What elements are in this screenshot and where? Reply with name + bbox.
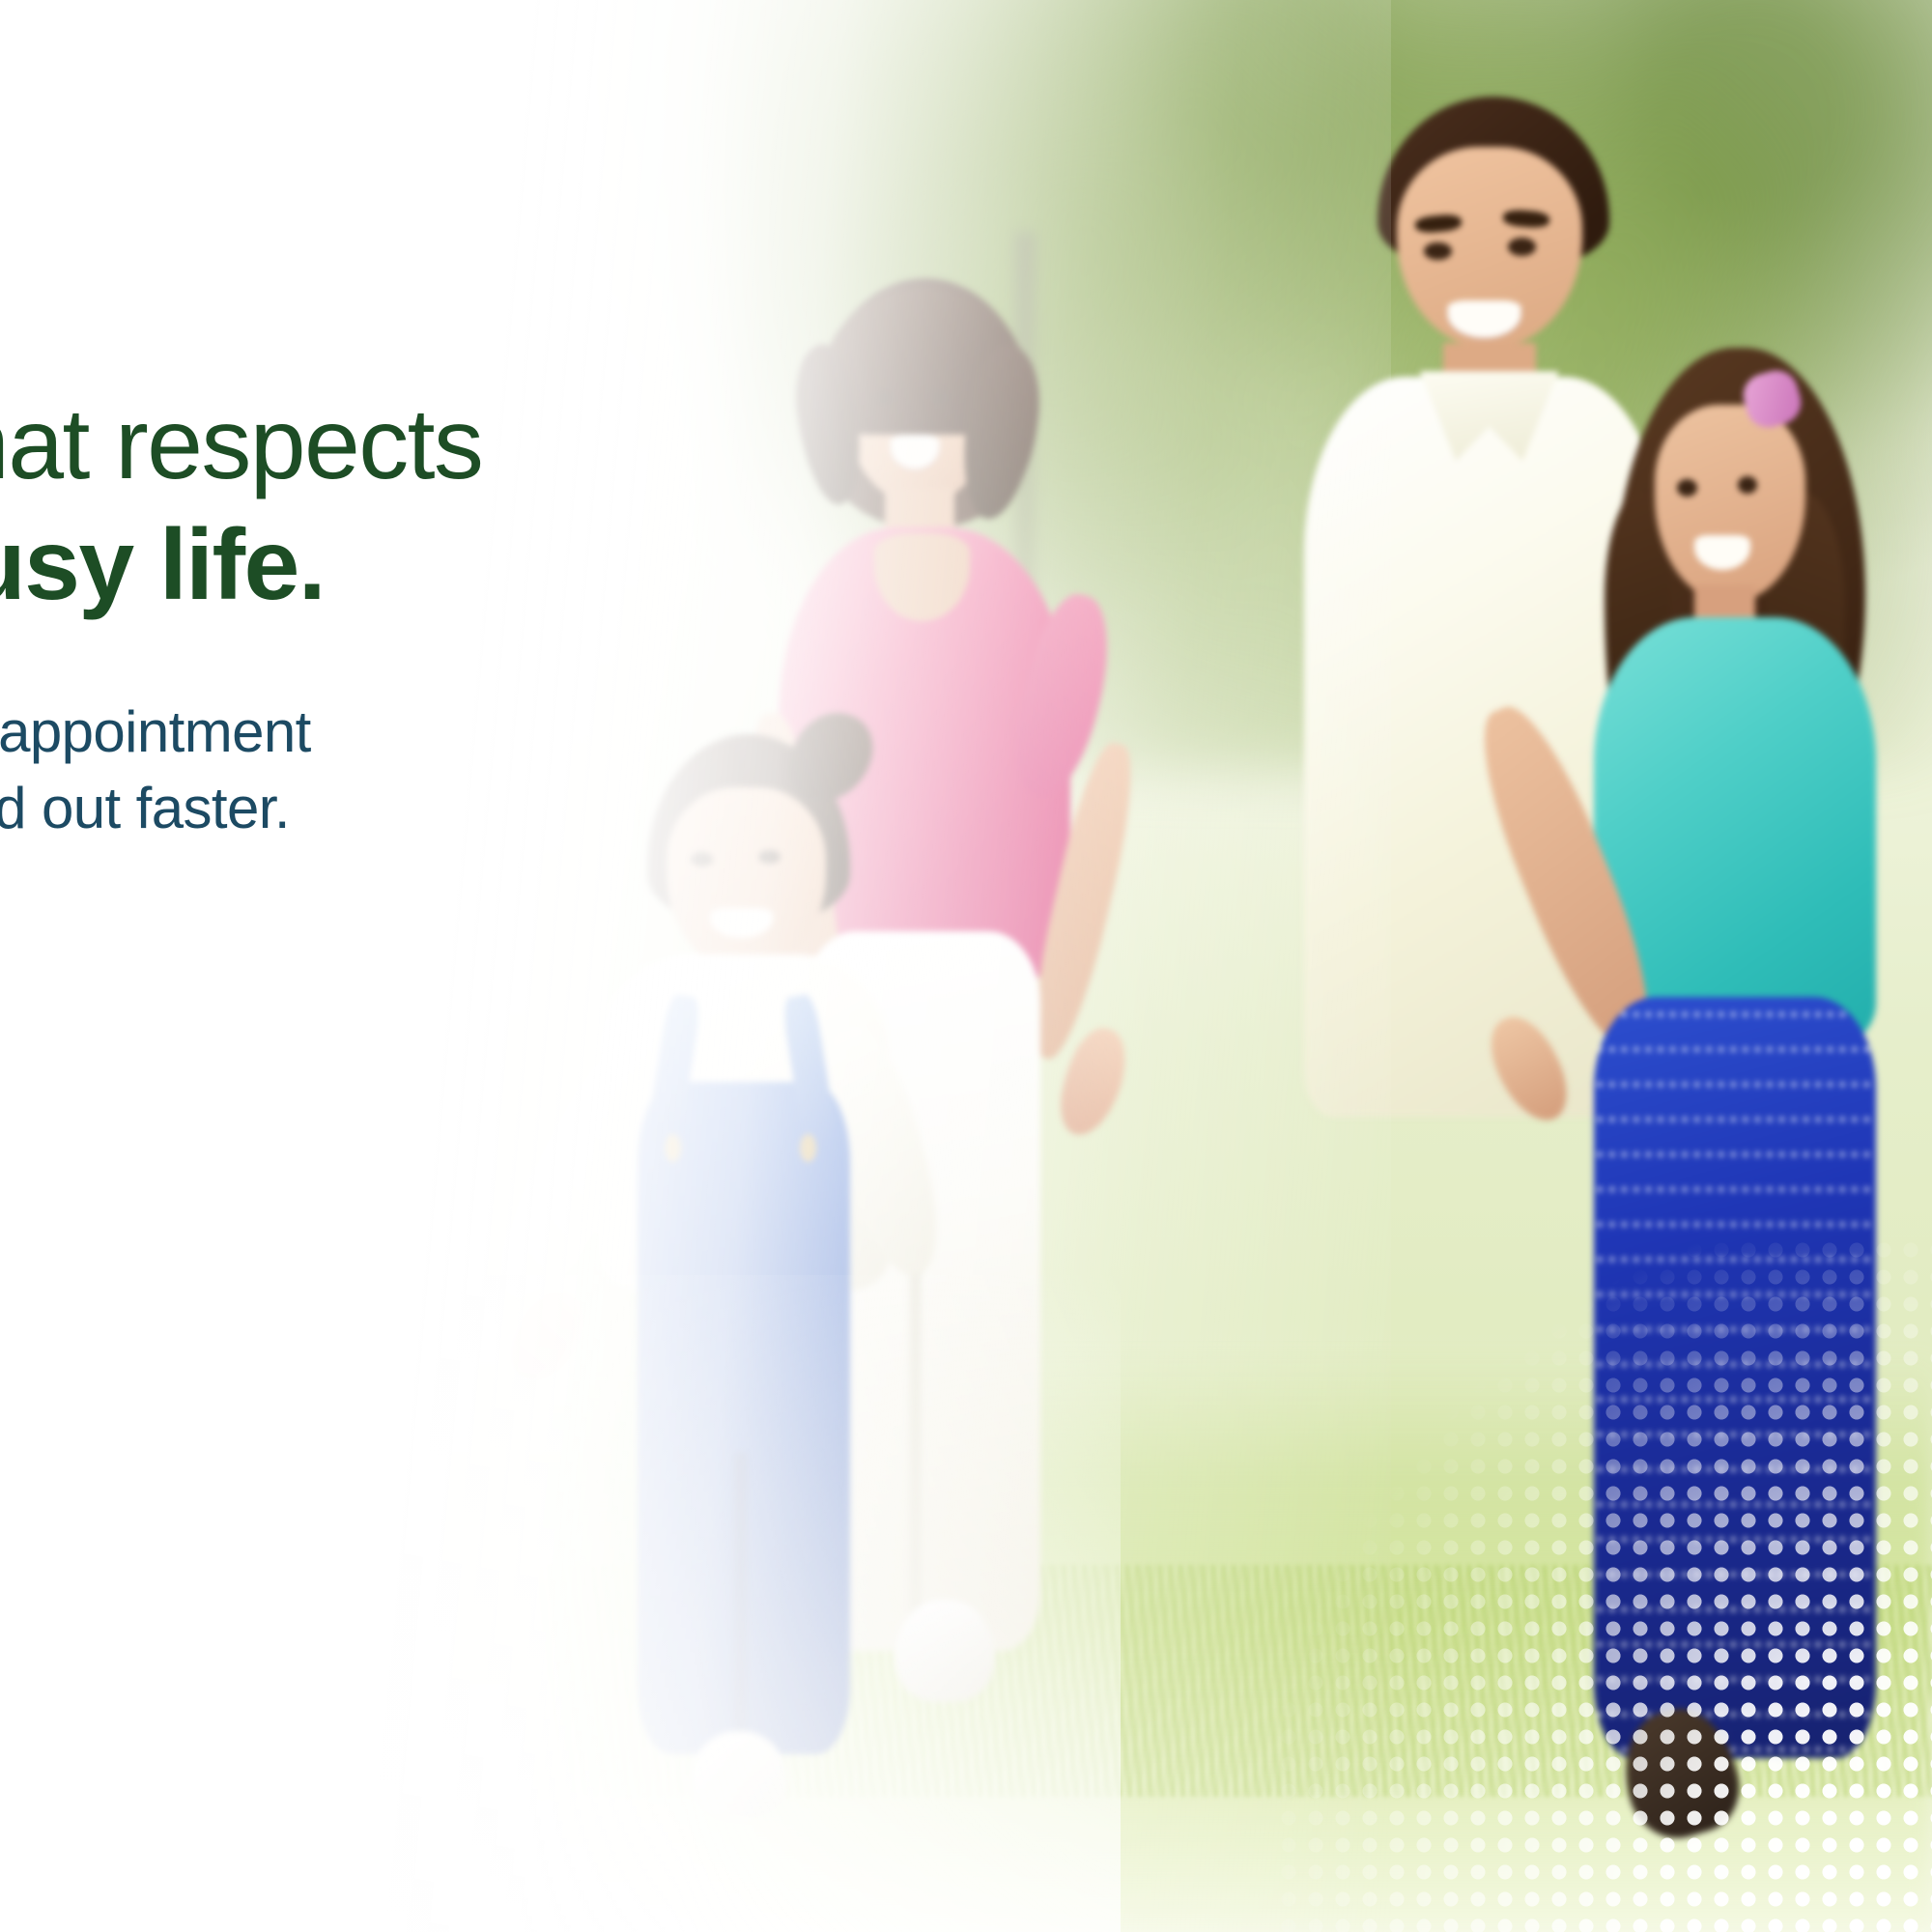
daughter-eye-left <box>1677 479 1697 497</box>
person-son <box>580 734 1063 1893</box>
hero-copy-block: A lab that respects your busy life. Sche… <box>0 384 729 847</box>
daughter-polka-dot-jeans <box>1594 997 1875 1757</box>
person-daughter <box>1584 348 1932 1932</box>
mother-eye-left <box>877 389 895 406</box>
mother-eye-right <box>932 389 950 406</box>
subcopy-line-2: and get in and out faster. <box>0 770 729 847</box>
father-eye-right <box>1508 238 1536 256</box>
son-shoe <box>691 1731 787 1818</box>
hero-headline: A lab that respects your busy life. <box>0 384 729 626</box>
hero-photograph <box>0 0 1932 1932</box>
son-eye-left <box>691 852 713 866</box>
headline-line-1: A lab that respects <box>0 384 729 505</box>
son-overall-seam <box>734 1453 747 1754</box>
son-overall-button-right <box>800 1134 816 1162</box>
son-overall-button-left <box>665 1134 681 1162</box>
headline-line-2-strong: your busy life. <box>0 509 325 621</box>
headline-line-2: your busy life. <box>0 505 729 626</box>
lab-services-hero-banner: A lab that respects your busy life. Sche… <box>0 0 1932 1932</box>
hero-subcopy: Schedule an appointment and get in and o… <box>0 694 729 848</box>
headline-line-1-rest: that respects <box>0 388 482 500</box>
daughter-eye-right <box>1738 476 1758 494</box>
subcopy-line-1: Schedule an appointment <box>0 694 729 771</box>
